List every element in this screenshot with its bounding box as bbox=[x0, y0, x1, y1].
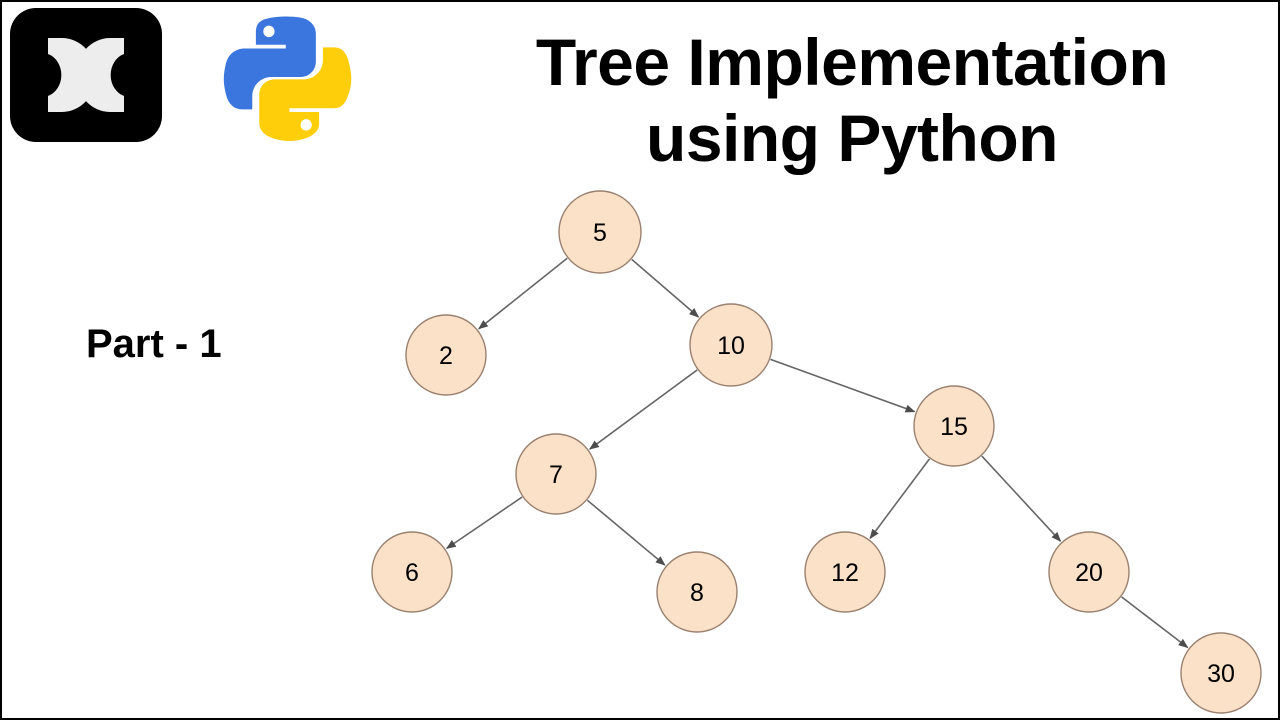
tree-node-10[interactable]: 10 bbox=[690, 304, 772, 386]
binary-tree-diagram: 521071568122030 bbox=[2, 2, 1280, 720]
tree-node-7[interactable]: 7 bbox=[516, 434, 596, 514]
tree-edge-15-to-12 bbox=[870, 459, 929, 538]
tree-node-label-7: 7 bbox=[549, 461, 563, 489]
tree-node-label-10: 10 bbox=[717, 332, 745, 360]
tree-node-label-15: 15 bbox=[940, 413, 968, 441]
tree-edge-10-to-7 bbox=[590, 370, 697, 449]
tree-node-20[interactable]: 20 bbox=[1049, 532, 1129, 612]
tree-edge-15-to-20 bbox=[982, 456, 1061, 541]
tree-node-label-5: 5 bbox=[593, 219, 607, 247]
tree-node-label-6: 6 bbox=[405, 559, 419, 587]
tree-node-label-8: 8 bbox=[690, 579, 704, 607]
tree-node-2[interactable]: 2 bbox=[406, 315, 486, 395]
tree-edge-10-to-15 bbox=[770, 359, 914, 411]
tree-node-label-30: 30 bbox=[1207, 660, 1235, 688]
tree-edge-7-to-6 bbox=[447, 497, 522, 548]
tree-edge-5-to-2 bbox=[479, 258, 567, 329]
tree-node-5[interactable]: 5 bbox=[559, 191, 641, 273]
tree-node-label-2: 2 bbox=[439, 342, 453, 370]
tree-edge-7-to-8 bbox=[587, 500, 664, 565]
tree-node-30[interactable]: 30 bbox=[1181, 633, 1261, 713]
slide-canvas: Tree Implementation using Python Part - … bbox=[0, 0, 1280, 720]
tree-edge-5-to-10 bbox=[632, 259, 699, 316]
tree-edge-20-to-30 bbox=[1122, 597, 1188, 648]
tree-node-6[interactable]: 6 bbox=[372, 532, 452, 612]
tree-node-12[interactable]: 12 bbox=[805, 532, 885, 612]
tree-node-15[interactable]: 15 bbox=[914, 386, 994, 466]
tree-node-8[interactable]: 8 bbox=[657, 552, 737, 632]
tree-node-label-12: 12 bbox=[831, 559, 859, 587]
tree-node-label-20: 20 bbox=[1075, 559, 1103, 587]
tree-node-group: 521071568122030 bbox=[372, 191, 1261, 713]
